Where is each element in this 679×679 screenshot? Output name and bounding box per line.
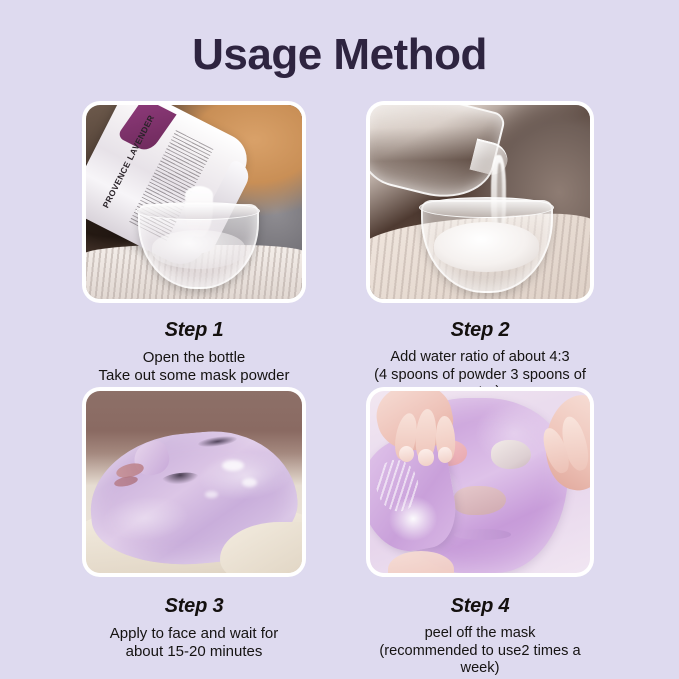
glass-bowl-rim	[419, 197, 555, 218]
glass-bowl-contents	[152, 230, 246, 269]
flap-gloss-ridges	[372, 457, 423, 515]
step-4-label: Step 4	[366, 595, 594, 618]
step-2-photo-frame	[366, 101, 594, 303]
step-card-4: Step 4 peel off the mask (recommended to…	[366, 387, 594, 678]
step-card-3: Step 3 Apply to face and wait for about …	[82, 387, 306, 661]
step-3-photo-frame	[82, 387, 306, 577]
mask-eye-hole-right	[491, 440, 531, 469]
left-hand-nail-1	[399, 446, 414, 462]
step-3-description: Apply to face and wait for about 15-20 m…	[82, 625, 306, 661]
pouring-powder-from-bottle-into-glass-bowl-image: PROVENCE LAVENDER	[86, 105, 302, 299]
step-2-label: Step 2	[366, 319, 594, 342]
step-1-label: Step 1	[82, 319, 306, 342]
step-3-label: Step 3	[82, 595, 306, 618]
hands-peeling-off-lavender-jelly-mask-image	[370, 391, 590, 573]
step-4-description: peel off the mask (recommended to use2 t…	[366, 625, 594, 678]
pouring-water-from-pitcher-into-bowl-of-powder-image	[370, 105, 590, 299]
step-4-photo-frame	[366, 387, 594, 577]
step-1-photo-frame: PROVENCE LAVENDER	[82, 101, 306, 303]
woman-face-with-lavender-jelly-mask-applied-image	[86, 391, 302, 573]
mask-powder-in-bowl	[434, 222, 539, 272]
step-card-1: PROVENCE LAVENDER Step 1 Open the bottle…	[82, 101, 306, 385]
step-1-description: Open the bottle Take out some mask powde…	[82, 349, 306, 385]
left-hand-nail-2	[418, 449, 433, 465]
step-card-2: Step 2 Add water ratio of about 4:3 (4 s…	[366, 101, 594, 402]
page-title: Usage Method	[0, 30, 679, 80]
glass-bowl-rim	[136, 202, 260, 220]
mask-highlight-1	[222, 460, 244, 471]
